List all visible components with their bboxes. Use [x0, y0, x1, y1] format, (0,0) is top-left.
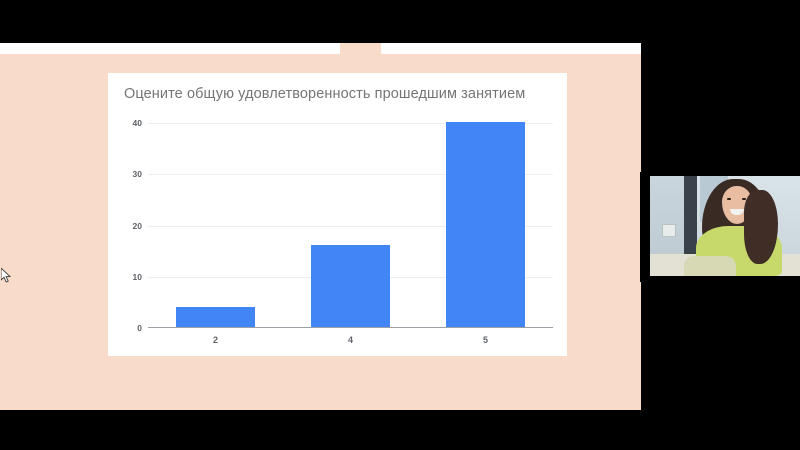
x-axis-line — [148, 327, 553, 328]
y-axis-tick-label: 40 — [133, 118, 142, 128]
x-axis-tick-label: 4 — [348, 335, 353, 345]
slide-top-notch — [340, 43, 381, 54]
chart-plot-area: 010203040245 — [148, 123, 553, 328]
y-axis-tick-label: 10 — [133, 272, 142, 282]
x-axis-tick-label: 2 — [213, 335, 218, 345]
chart-card: Оцените общую удовлетворенность прошедши… — [108, 73, 567, 356]
participant-video-frame — [650, 176, 800, 276]
y-axis-tick-label: 20 — [133, 221, 142, 231]
shared-screen-slide[interactable]: Оцените общую удовлетворенность прошедши… — [0, 43, 641, 410]
video-person-eye-left — [727, 198, 731, 200]
bar-2[interactable] — [176, 307, 255, 328]
slide-top-band — [0, 43, 641, 54]
participant-video-tile[interactable] — [640, 172, 800, 282]
bar-5[interactable] — [446, 122, 525, 327]
mouse-cursor-icon — [1, 268, 13, 284]
y-axis-tick-label: 30 — [133, 169, 142, 179]
video-light-switch — [662, 224, 676, 237]
bar-4[interactable] — [311, 245, 390, 327]
x-axis-tick-label: 5 — [483, 335, 488, 345]
video-call-stage: Оцените общую удовлетворенность прошедши… — [0, 0, 800, 450]
y-axis-tick-label: 0 — [137, 323, 142, 333]
video-person-arm — [684, 256, 736, 276]
chart-title: Оцените общую удовлетворенность прошедши… — [124, 86, 525, 102]
